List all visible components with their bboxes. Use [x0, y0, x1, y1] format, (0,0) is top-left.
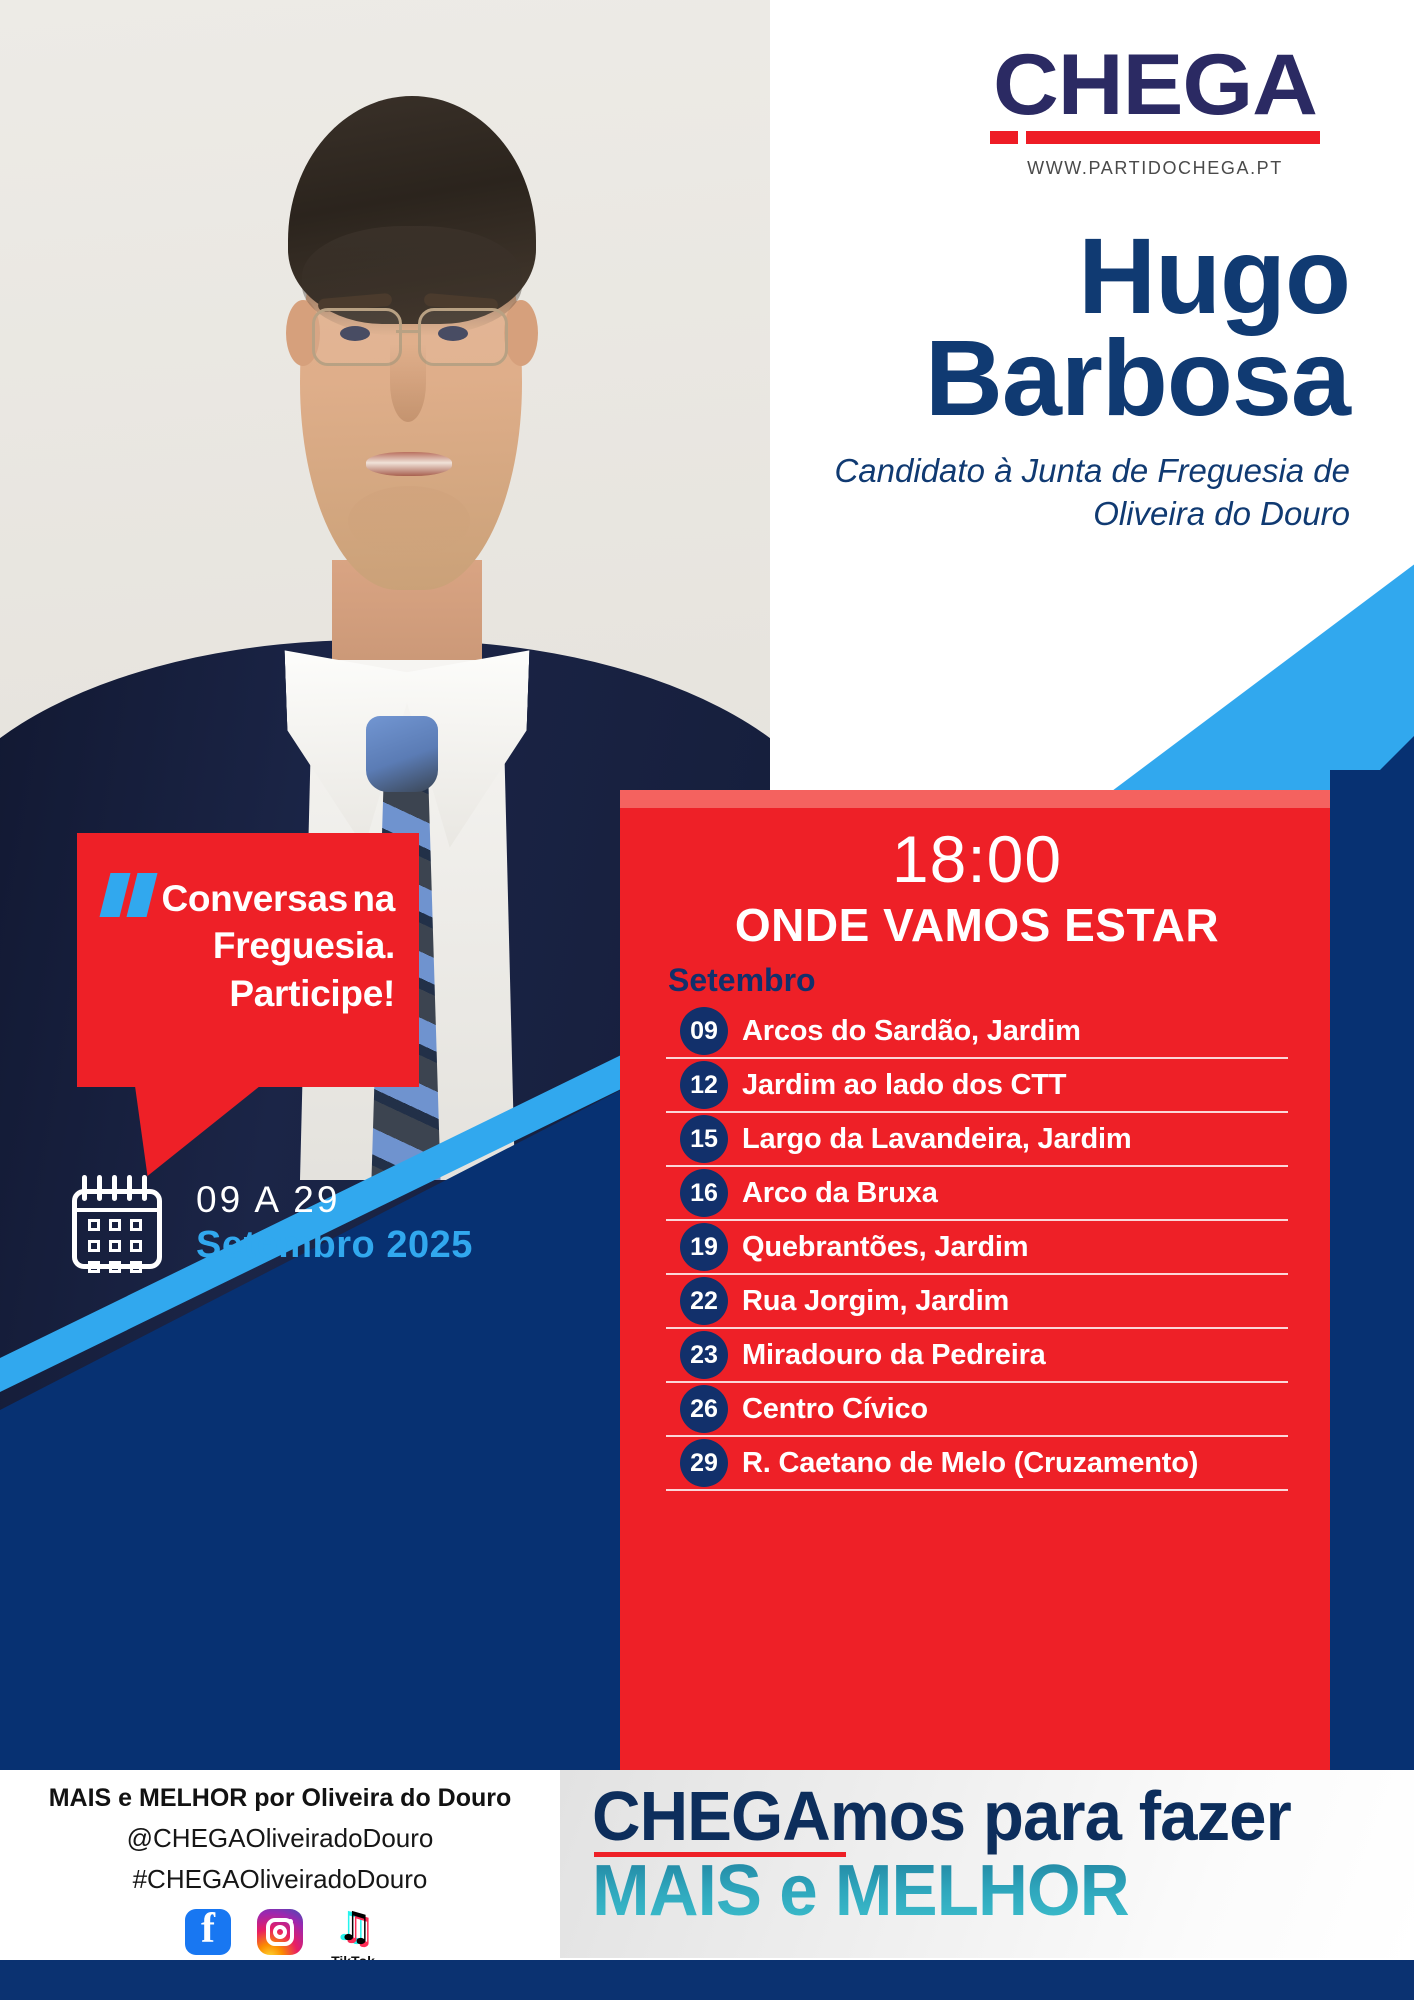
- schedule-row: 16Arco da Bruxa: [666, 1167, 1288, 1221]
- footer: MAIS e MELHOR por Oliveira do Douro @CHE…: [0, 1770, 1414, 1960]
- photo-glasses-right: [418, 308, 508, 366]
- date-range: 09 A 29: [196, 1177, 473, 1223]
- schedule-panel-content: 18:00 ONDE VAMOS ESTAR Setembro 09Arcos …: [620, 808, 1330, 1770]
- instagram-icon[interactable]: [257, 1909, 303, 1955]
- candidate-role-line-2: Oliveira do Douro: [560, 493, 1350, 536]
- website-url: WWW.PARTIDOCHEGA.PT: [980, 158, 1330, 179]
- quote-line-1: Conversas: [161, 878, 348, 919]
- schedule-row: 19Quebrantões, Jardim: [666, 1221, 1288, 1275]
- photo-mouth: [366, 452, 452, 476]
- schedule-day-badge: 16: [680, 1169, 728, 1217]
- date-range-block: 09 A 29 Setembro 2025: [72, 1175, 473, 1271]
- schedule-row: 15Largo da Lavandeira, Jardim: [666, 1113, 1288, 1167]
- candidate-role: Candidato à Junta de Freguesia de Olivei…: [560, 450, 1350, 536]
- schedule-row: 12Jardim ao lado dos CTT: [666, 1059, 1288, 1113]
- website-url-main: WWW.PARTIDOCHEGA: [1027, 158, 1250, 178]
- schedule-day-badge: 22: [680, 1277, 728, 1325]
- tiktok-icon[interactable]: ♫♫♫ TikTok: [329, 1909, 375, 1955]
- schedule-place: R. Caetano de Melo (Cruzamento): [742, 1447, 1198, 1480]
- calendar-icon: [72, 1175, 168, 1271]
- candidate-name-block: Hugo Barbosa Candidato à Junta de Fregue…: [560, 225, 1350, 536]
- footer-hashtag[interactable]: #CHEGAOliveiradoDouro: [0, 1864, 560, 1895]
- candidate-last-name: Barbosa: [560, 327, 1350, 429]
- schedule-day-badge: 29: [680, 1439, 728, 1487]
- candidate-role-line-1: Candidato à Junta de Freguesia de: [560, 450, 1350, 493]
- photo-glasses-bridge: [396, 330, 418, 333]
- slogan-line-2: MAIS e MELHOR: [592, 1850, 1129, 1932]
- schedule-month: Setembro: [668, 962, 1288, 999]
- quote-bubble: Conversas na Freguesia. Participe!: [77, 833, 419, 1087]
- schedule-list: 09Arcos do Sardão, Jardim12Jardim ao lad…: [666, 1005, 1288, 1491]
- bottom-navy-bar: [0, 1960, 1414, 2000]
- schedule-row: 22Rua Jorgim, Jardim: [666, 1275, 1288, 1329]
- schedule-row: 09Arcos do Sardão, Jardim: [666, 1005, 1288, 1059]
- schedule-panel: 18:00 ONDE VAMOS ESTAR Setembro 09Arcos …: [620, 790, 1330, 1770]
- quote-line-3: Participe!: [229, 973, 395, 1014]
- photo-nose: [390, 344, 426, 422]
- calendar-grid: [88, 1219, 142, 1273]
- schedule-place: Miradouro da Pedreira: [742, 1339, 1046, 1372]
- date-text: 09 A 29 Setembro 2025: [196, 1177, 473, 1269]
- schedule-day-badge: 26: [680, 1385, 728, 1433]
- photo-tie-knot: [366, 716, 438, 792]
- schedule-day-badge: 19: [680, 1223, 728, 1271]
- facebook-icon[interactable]: [185, 1909, 231, 1955]
- photo-glasses-left: [312, 308, 402, 366]
- schedule-time: 18:00: [666, 826, 1288, 892]
- slogan-line-1: CHEGAmos para fazer: [592, 1776, 1291, 1856]
- quote-mark-icon: [105, 873, 159, 922]
- campaign-poster: CHEGA WWW.PARTIDOCHEGA.PT Hugo Barbosa C…: [0, 0, 1414, 2000]
- schedule-place: Quebrantões, Jardim: [742, 1231, 1028, 1264]
- schedule-day-badge: 23: [680, 1331, 728, 1379]
- schedule-place: Largo da Lavandeira, Jardim: [742, 1123, 1131, 1156]
- schedule-place: Arco da Bruxa: [742, 1177, 938, 1210]
- chega-logo: CHEGA WWW.PARTIDOCHEGA.PT: [980, 45, 1330, 179]
- chega-wordmark: CHEGA: [970, 45, 1341, 127]
- schedule-row: 23 Miradouro da Pedreira: [666, 1329, 1288, 1383]
- schedule-place: Rua Jorgim, Jardim: [742, 1285, 1009, 1318]
- website-url-tld: .PT: [1250, 158, 1283, 178]
- schedule-place: Jardim ao lado dos CTT: [742, 1069, 1066, 1102]
- footer-left: MAIS e MELHOR por Oliveira do Douro @CHE…: [0, 1770, 560, 1955]
- schedule-panel-top-strip: [620, 790, 1330, 808]
- candidate-first-name: Hugo: [560, 225, 1350, 327]
- schedule-title: ONDE VAMOS ESTAR: [666, 898, 1288, 952]
- schedule-day-badge: 09: [680, 1007, 728, 1055]
- schedule-row: 29R. Caetano de Melo (Cruzamento): [666, 1437, 1288, 1491]
- slogan-banner: CHEGAmos para fazer MAIS e MELHOR: [560, 1770, 1414, 1958]
- footer-tagline: MAIS e MELHOR por Oliveira do Douro: [0, 1784, 560, 1813]
- schedule-day-badge: 15: [680, 1115, 728, 1163]
- schedule-row: 26Centro Cívico: [666, 1383, 1288, 1437]
- schedule-place: Arcos do Sardão, Jardim: [742, 1015, 1081, 1048]
- social-links: ♫♫♫ TikTok: [0, 1909, 560, 1955]
- date-month-year: Setembro 2025: [196, 1223, 473, 1269]
- footer-handle[interactable]: @CHEGAOliveiradoDouro: [0, 1823, 560, 1854]
- quote-bubble-inner: Conversas na Freguesia. Participe!: [77, 833, 419, 1087]
- schedule-place: Centro Cívico: [742, 1393, 928, 1426]
- photo-chin: [348, 486, 470, 556]
- navy-right-column: [1330, 770, 1414, 1770]
- schedule-day-badge: 12: [680, 1061, 728, 1109]
